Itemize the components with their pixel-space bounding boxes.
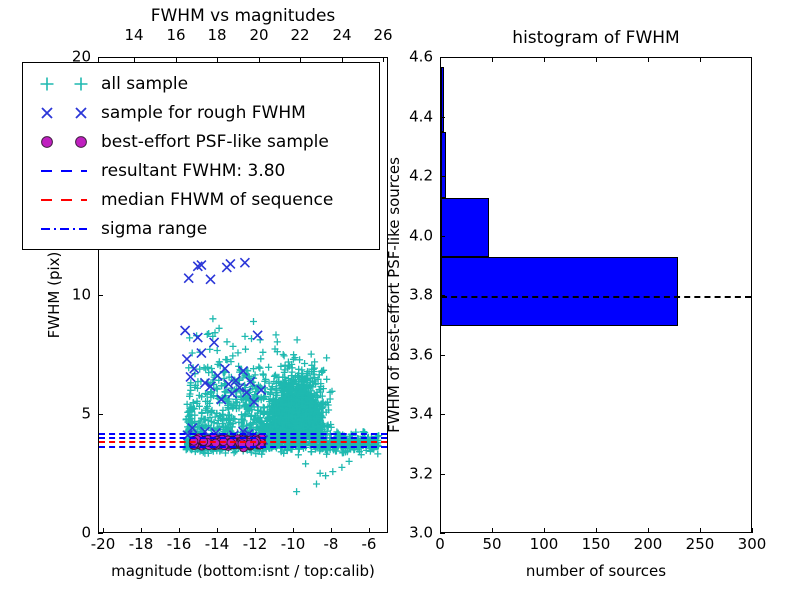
- circle-icon: [39, 134, 55, 150]
- histogram-bars-layer: [441, 58, 751, 532]
- bottom-xtick: [179, 528, 180, 533]
- sigma-range-upper-line: [99, 433, 387, 435]
- dashdot-line-icon: [38, 224, 90, 234]
- dashed-line-icon: [38, 166, 90, 176]
- top-xtick-label: 18: [207, 28, 226, 43]
- dashed-line-icon: [38, 195, 90, 205]
- histogram-bar[interactable]: [441, 132, 446, 197]
- legend-label: median FHWM of sequence: [97, 190, 333, 210]
- legend-item-psf-sample[interactable]: best-effort PSF-like sample: [31, 127, 369, 156]
- histogram-axes: [440, 57, 752, 533]
- right-panel-title: histogram of FWHM: [512, 28, 679, 48]
- right-xaxis-label: number of sources: [526, 562, 666, 580]
- right-ytick: [440, 355, 445, 356]
- right-ytick: [440, 474, 445, 475]
- right-ytick: [440, 117, 445, 118]
- left-ytick: [98, 57, 103, 58]
- left-ytick: [98, 533, 103, 534]
- left-ytick-label: 0: [63, 526, 91, 541]
- top-xtick-label: 26: [373, 28, 392, 43]
- right-xtick-label: 300: [738, 537, 767, 552]
- right-xtick-label: 150: [582, 537, 611, 552]
- bottom-xtick-label: -20: [91, 537, 116, 552]
- bottom-xtick-label: -6: [362, 537, 377, 552]
- right-xtick: [596, 528, 597, 533]
- bottom-xtick-label: -16: [167, 537, 192, 552]
- right-yaxis-label: FWHM of best-effort PSF-like sources: [385, 157, 403, 433]
- right-top-xtick: [596, 57, 597, 62]
- left-yaxis-label: FWHM (pix): [45, 252, 63, 339]
- right-xtick: [752, 528, 753, 533]
- left-ytick-label: 5: [63, 407, 91, 422]
- legend-label: best-effort PSF-like sample: [97, 132, 329, 152]
- right-xtick-label: 200: [634, 537, 663, 552]
- right-xtick-label: 50: [482, 537, 501, 552]
- bottom-xtick: [103, 528, 104, 533]
- legend-marker: [31, 102, 97, 124]
- bottom-xtick: [369, 528, 370, 533]
- plus-icon: [73, 76, 89, 92]
- cross-icon: [39, 105, 55, 121]
- legend-label: sigma range: [97, 219, 207, 239]
- right-ytick: [440, 176, 445, 177]
- histogram-canvas: [441, 58, 751, 532]
- median-fwhm-line: [99, 441, 387, 443]
- right-top-xtick: [648, 57, 649, 62]
- histogram-bar[interactable]: [441, 198, 489, 258]
- legend-marker: [31, 73, 97, 95]
- right-top-xtick: [700, 57, 701, 62]
- legend-label: resultant FWHM: 3.80: [97, 161, 285, 181]
- legend-item-rough-fwhm[interactable]: sample for rough FWHM: [31, 98, 369, 127]
- bottom-xtick: [141, 528, 142, 533]
- right-xtick: [544, 528, 545, 533]
- circle-icon: [73, 134, 89, 150]
- left-panel-title: FWHM vs magnitudes: [151, 6, 336, 26]
- top-xtick-label: 24: [332, 28, 351, 43]
- left-ytick: [98, 414, 103, 415]
- right-xtick: [700, 528, 701, 533]
- right-xtick: [492, 528, 493, 533]
- legend-label: all sample: [97, 74, 188, 94]
- right-xtick-label: 0: [435, 537, 445, 552]
- legend-marker: [31, 160, 97, 182]
- right-top-xtick: [544, 57, 545, 62]
- legend-label: sample for rough FWHM: [97, 103, 306, 123]
- legend-marker: [31, 131, 97, 153]
- legend-item-all-sample[interactable]: all sample: [31, 69, 369, 98]
- right-ytick: [440, 295, 445, 296]
- cross-icon: [73, 105, 89, 121]
- bottom-xtick: [293, 528, 294, 533]
- bottom-xtick-label: -10: [281, 537, 306, 552]
- sigma-range-lower-line: [99, 446, 387, 448]
- right-xtick: [648, 528, 649, 533]
- right-ytick: [440, 236, 445, 237]
- legend-item-median-fwhm[interactable]: median FHWM of sequence: [31, 185, 369, 214]
- left-xaxis-label: magnitude (bottom:isnt / top:calib): [111, 562, 375, 580]
- bottom-xtick-label: -8: [324, 537, 339, 552]
- right-ytick: [440, 57, 445, 58]
- bottom-xtick-label: -12: [243, 537, 268, 552]
- top-xtick: [383, 57, 384, 62]
- right-ytick: [440, 533, 445, 534]
- top-xtick-label: 16: [166, 28, 185, 43]
- resultant-fwhm-dashed-line: [441, 296, 751, 298]
- right-ytick-label: 4.6: [393, 50, 433, 65]
- legend-item-sigma-range[interactable]: sigma range: [31, 214, 369, 243]
- top-xtick-label: 20: [249, 28, 268, 43]
- right-xtick-label: 250: [686, 537, 715, 552]
- legend-box: all sample sample for rough FWHM best-ef…: [22, 62, 380, 250]
- figure-canvas: FWHM vs magnitudes 14 16 18 20 22 24 26 …: [0, 0, 800, 600]
- right-ytick-label: 3.2: [393, 466, 433, 481]
- top-xtick-label: 22: [290, 28, 309, 43]
- right-ytick-label: 3.0: [393, 526, 433, 541]
- right-ytick-label: 4.4: [393, 109, 433, 124]
- right-top-xtick: [492, 57, 493, 62]
- left-ytick-label: 10: [63, 288, 91, 303]
- legend-marker: [31, 189, 97, 211]
- right-xtick-label: 100: [530, 537, 559, 552]
- plus-icon: [39, 76, 55, 92]
- left-ytick: [98, 295, 103, 296]
- bottom-xtick-label: -18: [129, 537, 154, 552]
- bottom-xtick: [255, 528, 256, 533]
- histogram-bar[interactable]: [441, 257, 678, 325]
- histogram-bar[interactable]: [441, 67, 444, 133]
- legend-item-resultant-fwhm[interactable]: resultant FWHM: 3.80: [31, 156, 369, 185]
- right-ytick: [440, 414, 445, 415]
- bottom-xtick: [331, 528, 332, 533]
- bottom-xtick-label: -14: [205, 537, 230, 552]
- top-xtick-label: 14: [124, 28, 143, 43]
- legend-marker: [31, 218, 97, 240]
- bottom-xtick: [217, 528, 218, 533]
- resultant-fwhm-line: [99, 437, 387, 439]
